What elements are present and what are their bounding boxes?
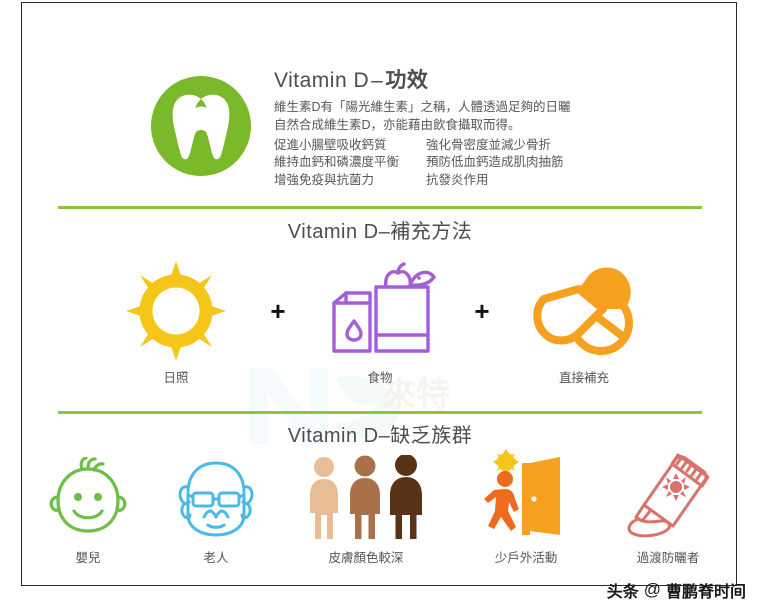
sun-symbol: [662, 473, 690, 501]
sun-icon: [124, 259, 228, 363]
sources-headline: Vitamin D–補充方法: [22, 215, 737, 244]
source-label-sunlight: 日照: [163, 367, 188, 386]
sunscreen-tube-icon: [622, 449, 714, 541]
door: [522, 457, 560, 535]
person-dark: [390, 455, 422, 539]
plus-sign-2: +: [456, 257, 508, 365]
benefits-text-block: Vitamin D–功效 維生素D有「陽光維生素」之稱，人體透過足夠的日曬 自然…: [274, 69, 630, 190]
risk-item-elderly: 老人: [174, 455, 258, 566]
risk-art-elderly: [174, 455, 258, 541]
risk-label-baby: 嬰兒: [75, 547, 100, 566]
section-benefits: Vitamin D–功效 維生素D有「陽光維生素」之稱，人體透過足夠的日曬 自然…: [22, 59, 737, 199]
source-item-sunlight: 日照: [100, 257, 252, 386]
section-risk-groups: Vitamin D–缺乏族群: [22, 419, 737, 569]
benefit-item-left-1: 促進小腸壁吸收鈣質: [274, 137, 426, 155]
risk-label-elderly: 老人: [203, 547, 228, 566]
risk-headline: Vitamin D–缺乏族群: [22, 419, 737, 448]
infographic-page: 來特 Vitamin D–功效 維生素D有「陽光維生素」之稱，人體透過足夠的日曬…: [0, 0, 760, 614]
benefits-headline: Vitamin D–功效: [274, 69, 630, 92]
section-sources: Vitamin D–補充方法: [22, 215, 737, 407]
source-art-food: [324, 257, 436, 365]
person-light: [310, 457, 338, 539]
source-item-food: 食物: [304, 257, 456, 386]
risk-headline-cn: 缺乏族群: [390, 425, 472, 447]
benefit-row: 增強免疫與抗菌力 抗發炎作用: [274, 172, 630, 190]
attribution-account: 曹鹏脊时间: [666, 578, 746, 602]
risk-headline-en: Vitamin D: [288, 425, 379, 447]
risk-item-skin-tone: 皮膚顏色較深: [302, 455, 430, 566]
benefit-item-left-3: 增強免疫與抗菌力: [274, 172, 426, 190]
risk-item-indoor: 少戶外活動: [474, 455, 578, 566]
people-skin-tones-icon: [302, 455, 430, 541]
risk-art-baby: [46, 455, 130, 541]
risk-item-sunscreen: 過渡防曬者: [622, 455, 714, 566]
risk-label-skin-tone: 皮膚顏色較深: [328, 547, 403, 566]
sources-headline-cn: 補充方法: [390, 221, 472, 243]
infographic-canvas: 來特 Vitamin D–功效 維生素D有「陽光維生素」之稱，人體透過足夠的日曬…: [21, 2, 737, 586]
capsule-icon: [529, 259, 639, 363]
attribution-at-symbol: @: [644, 580, 661, 600]
benefit-row: 維持血鈣和磷濃度平衡 預防低血鈣造成肌肉抽筋: [274, 154, 630, 172]
source-art-supplement: [529, 257, 639, 365]
benefit-row: 促進小腸壁吸收鈣質 強化骨密度並減少骨折: [274, 137, 630, 155]
benefit-item-right-3: 抗發炎作用: [426, 172, 630, 190]
source-label-food: 食物: [367, 367, 392, 386]
benefit-item-right-1: 強化骨密度並減少骨折: [426, 137, 630, 155]
risk-art-sunscreen: [622, 455, 714, 541]
benefits-description-line-1: 維生素D有「陽光維生素」之稱，人體透過足夠的日曬: [274, 99, 630, 117]
walking-person: [484, 471, 519, 531]
attribution-platform: 头条: [607, 578, 639, 602]
benefits-headline-cn: 功效: [385, 69, 428, 92]
baby-face-icon: [46, 457, 130, 541]
source-label-supplement: 直接補充: [559, 367, 609, 386]
risk-row: 嬰兒: [46, 455, 714, 566]
risk-item-baby: 嬰兒: [46, 455, 130, 566]
benefit-item-right-2: 預防低血鈣造成肌肉抽筋: [426, 154, 630, 172]
section-divider-1: [58, 206, 702, 209]
benefits-headline-en: Vitamin D: [274, 69, 369, 92]
elderly-face-icon: [174, 457, 258, 541]
risk-art-indoor: [474, 455, 578, 541]
section-divider-2: [58, 411, 702, 414]
benefit-item-left-2: 維持血鈣和磷濃度平衡: [274, 154, 426, 172]
sources-headline-en: Vitamin D: [288, 221, 379, 243]
source-item-supplement: 直接補充: [508, 257, 660, 386]
benefits-headline-dash: –: [369, 69, 385, 92]
groceries-icon: [324, 259, 436, 363]
sources-row: 日照 +: [82, 257, 678, 402]
person-leaving-door-icon: [474, 449, 578, 541]
risk-headline-dash: –: [379, 425, 391, 447]
risk-label-sunscreen: 過渡防曬者: [637, 547, 700, 566]
plus-sign-1: +: [252, 257, 304, 365]
sources-headline-dash: –: [379, 221, 391, 243]
risk-art-skin-tone: [302, 455, 430, 541]
benefits-description-line-2: 自然合成維生素D，亦能藉由飲食攝取而得。: [274, 117, 630, 135]
attribution: 头条 @ 曹鹏脊时间: [607, 578, 746, 602]
source-art-sunlight: [124, 257, 228, 365]
person-medium: [350, 456, 380, 540]
benefits-list: 促進小腸壁吸收鈣質 強化骨密度並減少骨折 維持血鈣和磷濃度平衡 預防低血鈣造成肌…: [274, 137, 630, 190]
benefits-description: 維生素D有「陽光維生素」之稱，人體透過足夠的日曬 自然合成維生素D，亦能藉由飲食…: [274, 99, 630, 135]
tooth-icon: [150, 75, 252, 177]
risk-label-indoor: 少戶外活動: [495, 547, 558, 566]
